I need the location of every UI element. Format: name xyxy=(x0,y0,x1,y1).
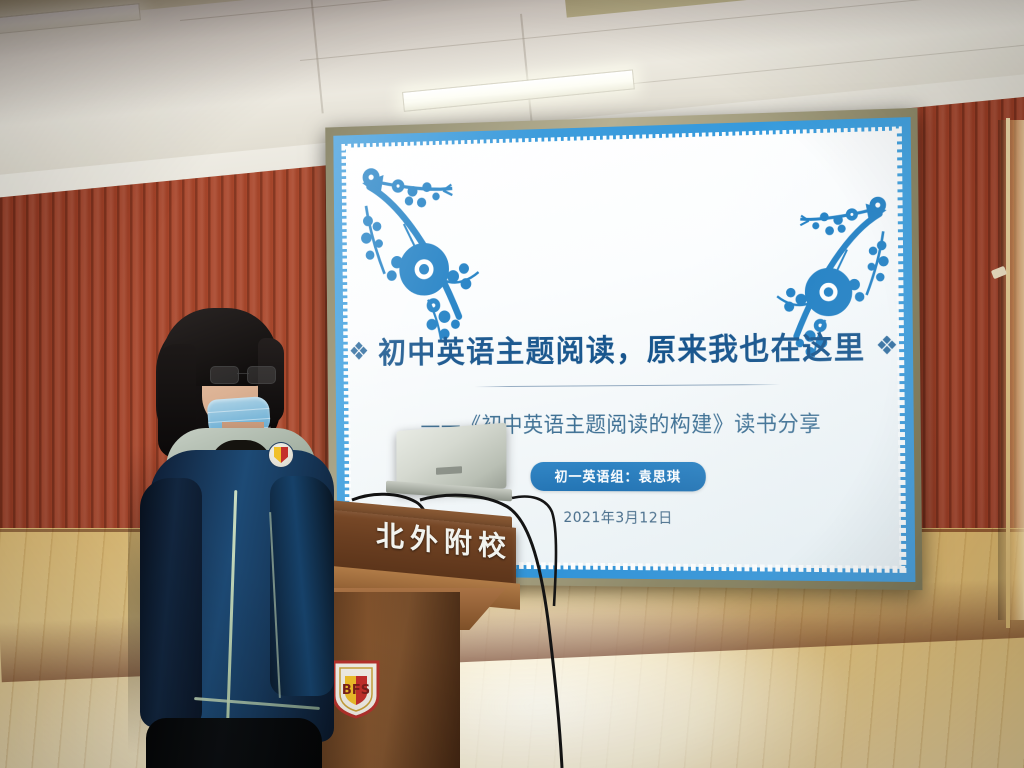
presentation-photo-scene: ❖ 初中英语主题阅读，原来我也在这里 ❖ ——《初中英语主题阅读的构建》读书分享… xyxy=(0,0,1024,768)
speaker-vest-arm-right xyxy=(270,476,334,696)
mask-pleat xyxy=(208,408,270,413)
glasses-bridge xyxy=(237,373,249,374)
speaker-glasses xyxy=(210,366,276,383)
speaker-person xyxy=(118,300,338,768)
slide-title-row: ❖ 初中英语主题阅读，原来我也在这里 ❖ xyxy=(348,322,900,372)
flourish-left-icon: ❖ xyxy=(348,338,369,363)
wall-right-edge xyxy=(1006,118,1010,628)
flourish-right-icon: ❖ xyxy=(875,332,898,358)
speaker-trousers xyxy=(146,718,322,768)
slide-title-divider xyxy=(474,384,780,387)
glasses-lens-right xyxy=(247,366,276,384)
svg-text:BFS: BFS xyxy=(342,683,370,698)
plum-blossom-decor-left xyxy=(357,164,512,349)
slide-title: 初中英语主题阅读，原来我也在这里 xyxy=(378,323,866,372)
wall-right-light-strip xyxy=(998,120,1024,620)
slide-presenter-badge: 初一英语组：袁思琪 xyxy=(530,462,706,491)
speaker-crest-badge xyxy=(268,442,294,468)
speaker-vest-arm-left xyxy=(140,478,202,728)
crest-badge-shield xyxy=(274,447,288,463)
glasses-lens-left xyxy=(210,366,239,384)
